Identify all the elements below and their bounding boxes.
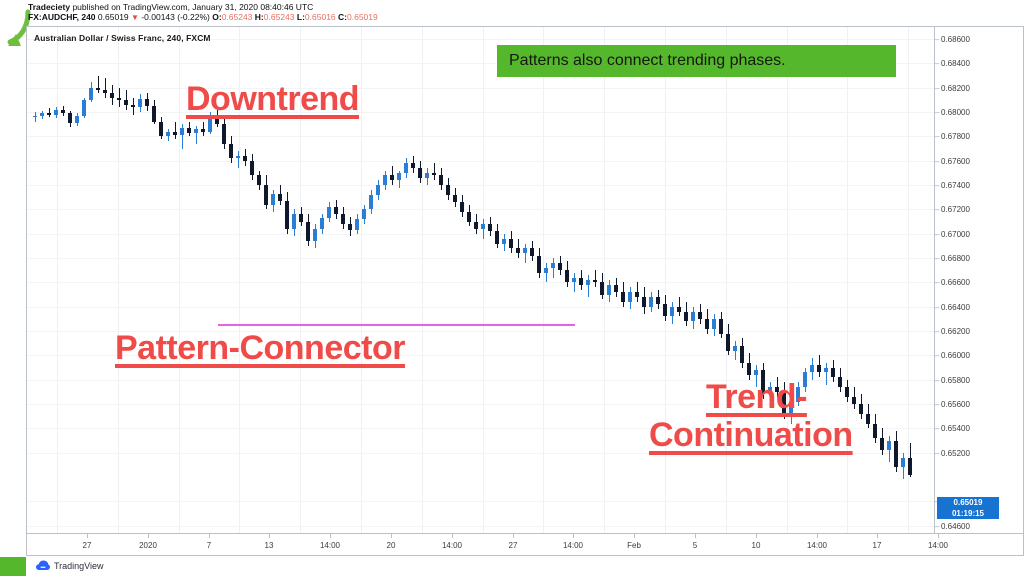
- candle-body: [257, 175, 261, 185]
- candle-body: [572, 278, 576, 283]
- grid-line-vertical: [604, 27, 605, 533]
- candle-body: [635, 292, 639, 297]
- price-tick-label: –0.67200: [935, 205, 970, 214]
- time-tick-mark: [148, 534, 149, 538]
- candle-body: [327, 207, 331, 218]
- pattern-connector-line[interactable]: [218, 324, 575, 326]
- candle-body: [264, 185, 268, 204]
- price-scale[interactable]: –0.68600–0.68400–0.68200–0.68000–0.67800…: [934, 26, 1024, 534]
- candle-body: [159, 122, 163, 137]
- time-tick-label: 14:00: [442, 541, 462, 550]
- candle-body: [236, 156, 240, 158]
- candle-body: [131, 105, 135, 107]
- candle-body: [600, 282, 604, 294]
- price-tick-label: –0.67000: [935, 230, 970, 239]
- time-tick-label: 7: [207, 541, 211, 550]
- price-tick-label: –0.68000: [935, 108, 970, 117]
- candle-body: [726, 334, 730, 351]
- candle-body: [68, 113, 72, 123]
- candle-body: [481, 224, 485, 229]
- candle-body: [810, 365, 814, 372]
- time-scale[interactable]: 27202071314:002014:002714:00Feb51014:001…: [26, 534, 1024, 556]
- symbol-label: FX:AUDCHF, 240: [28, 12, 96, 22]
- change-absolute: -0.00143: [141, 12, 175, 22]
- candle-wick: [175, 122, 176, 139]
- time-tick-mark: [330, 534, 331, 538]
- candle-body: [306, 222, 310, 241]
- candle-body: [117, 98, 121, 100]
- candle-body: [425, 173, 429, 178]
- candle-wick: [595, 270, 596, 287]
- candle-body: [495, 231, 499, 243]
- candle-body: [838, 377, 842, 387]
- candle-body: [733, 346, 737, 351]
- candle-body: [908, 458, 912, 475]
- time-tick-mark: [695, 534, 696, 538]
- time-tick-mark: [391, 534, 392, 538]
- candle-body: [670, 307, 674, 317]
- direction-arrow-icon: ▼: [131, 13, 139, 22]
- candle-body: [369, 195, 373, 210]
- candle-body: [124, 100, 128, 105]
- open-label: O:: [212, 12, 221, 22]
- candle-wick: [238, 151, 239, 168]
- candle-body: [558, 263, 562, 270]
- annotation-pattern-connector: Pattern-Connector: [115, 329, 405, 368]
- candle-body: [628, 292, 632, 302]
- time-tick-label: 27: [83, 541, 92, 550]
- annotation-downtrend: Downtrend: [186, 80, 359, 119]
- time-tick-label: 14:00: [807, 541, 827, 550]
- grid-line-horizontal: [27, 307, 934, 308]
- time-tick-mark: [573, 534, 574, 538]
- grid-line-horizontal: [27, 209, 934, 210]
- grid-line-vertical: [483, 27, 484, 533]
- candle-wick: [546, 263, 547, 282]
- open-value: 0.65243: [222, 12, 253, 22]
- candle-wick: [434, 163, 435, 180]
- candle-body: [152, 106, 156, 122]
- symbol-quote-line: FX:AUDCHF, 240 0.65019 ▼ -0.00143 (-0.22…: [28, 12, 378, 22]
- candle-body: [453, 195, 457, 202]
- candle-body: [75, 116, 79, 123]
- candle-body: [663, 304, 667, 316]
- candle-body: [411, 163, 415, 168]
- candle-body: [516, 248, 520, 253]
- time-tick-mark: [756, 534, 757, 538]
- candle-body: [278, 194, 282, 201]
- grid-line-horizontal: [27, 161, 934, 162]
- candle-body: [33, 116, 37, 117]
- candle-body: [901, 458, 905, 468]
- candle-wick: [35, 112, 36, 122]
- candle-body: [103, 90, 107, 92]
- time-tick-mark: [877, 534, 878, 538]
- candle-body: [320, 218, 324, 229]
- grid-line-vertical: [726, 27, 727, 533]
- candle-body: [222, 124, 226, 143]
- grid-line-horizontal: [27, 234, 934, 235]
- candle-body: [404, 163, 408, 173]
- candle-body: [362, 209, 366, 219]
- published-text: published on TradingView.com, January 31…: [72, 2, 313, 12]
- time-tick-label: 14:00: [320, 541, 340, 550]
- candle-body: [845, 387, 849, 397]
- price-tick-label: –0.65800: [935, 376, 970, 385]
- candle-wick: [105, 78, 106, 97]
- time-tick-label: 2020: [139, 541, 157, 550]
- candle-body: [537, 256, 541, 273]
- candle-body: [313, 229, 317, 241]
- candle-body: [698, 312, 702, 319]
- time-tick-label: Feb: [627, 541, 641, 550]
- candle-body: [54, 110, 58, 115]
- grid-line-horizontal: [27, 501, 934, 502]
- candle-body: [201, 129, 205, 131]
- time-tick-label: 27: [509, 541, 518, 550]
- candle-body: [138, 99, 142, 108]
- candle-body: [691, 312, 695, 322]
- candle-wick: [588, 275, 589, 297]
- callout-text: Patterns also connect trending phases.: [509, 52, 786, 70]
- candle-body: [488, 224, 492, 231]
- change-percent: (-0.22%): [177, 12, 210, 22]
- candle-body: [740, 346, 744, 363]
- candle-body: [229, 144, 233, 159]
- candle-body: [82, 100, 86, 116]
- candle-body: [460, 202, 464, 212]
- candle-body: [446, 185, 450, 195]
- candle-body: [859, 404, 863, 414]
- grid-line-horizontal: [27, 258, 934, 259]
- candle-body: [474, 222, 478, 229]
- current-price-badge: 0.65019: [937, 497, 999, 508]
- cloud-icon: [36, 560, 50, 571]
- candle-body: [754, 370, 758, 375]
- time-tick-label: 14:00: [928, 541, 948, 550]
- candle-body: [383, 175, 387, 185]
- candle-body: [579, 278, 583, 285]
- candle-body: [292, 214, 296, 229]
- tradingview-wordmark: TradingView: [54, 561, 104, 571]
- price-tick-label: –0.68600: [935, 35, 970, 44]
- grid-line-vertical: [787, 27, 788, 533]
- price-tick-label: –0.66800: [935, 254, 970, 263]
- candle-body: [530, 248, 534, 255]
- screenshot-root: Tradeciety published on TradingView.com,…: [0, 0, 1024, 576]
- grid-line-horizontal: [27, 136, 934, 137]
- candle-body: [271, 194, 275, 205]
- grid-line-vertical: [847, 27, 848, 533]
- candle-body: [551, 263, 555, 268]
- candle-body: [586, 280, 590, 285]
- price-tick-label: –0.64600: [935, 522, 970, 531]
- green-block-decoration: [0, 557, 26, 576]
- time-tick-mark: [209, 534, 210, 538]
- candle-body: [656, 297, 660, 304]
- grid-line-horizontal: [27, 185, 934, 186]
- candle-body: [621, 292, 625, 302]
- grid-line-horizontal: [27, 282, 934, 283]
- price-tick-label: –0.68200: [935, 84, 970, 93]
- price-tick-label: –0.66600: [935, 278, 970, 287]
- candle-body: [544, 268, 548, 273]
- candle-body: [705, 319, 709, 329]
- grid-line-horizontal: [27, 526, 934, 527]
- low-label: L:: [297, 12, 305, 22]
- candle-body: [467, 212, 471, 222]
- candle-body: [649, 297, 653, 307]
- candle-body: [341, 214, 345, 224]
- annotation-trend-continuation-line1: Trend-: [706, 378, 807, 417]
- candle-body: [397, 173, 401, 180]
- candle-body: [145, 99, 149, 106]
- grid-line-vertical: [665, 27, 666, 533]
- tradingview-logo[interactable]: TradingView: [36, 560, 104, 571]
- publisher-line: Tradeciety published on TradingView.com,…: [28, 2, 313, 12]
- time-tick-mark: [87, 534, 88, 538]
- candle-body: [173, 132, 177, 136]
- time-tick-mark: [269, 534, 270, 538]
- candle-body: [166, 132, 170, 137]
- price-tick-label: –0.66000: [935, 351, 970, 360]
- candle-body: [439, 175, 443, 185]
- publisher-name: Tradeciety: [28, 2, 70, 12]
- candle-wick: [826, 363, 827, 385]
- candle-body: [502, 239, 506, 244]
- time-tick-label: 17: [873, 541, 882, 550]
- price-tick-label: –0.65600: [935, 400, 970, 409]
- candle-body: [880, 438, 884, 450]
- candle-body: [334, 207, 338, 214]
- candle-body: [817, 365, 821, 372]
- chart-legend: Australian Dollar / Swiss Franc, 240, FX…: [34, 33, 211, 43]
- candle-body: [712, 319, 716, 329]
- price-tick-label: –0.66200: [935, 327, 970, 336]
- high-label: H:: [255, 12, 264, 22]
- candle-body: [432, 173, 436, 175]
- time-tick-label: 14:00: [563, 541, 583, 550]
- candle-body: [824, 368, 828, 373]
- candle-body: [418, 168, 422, 178]
- candle-body: [894, 441, 898, 468]
- price-tick-label: –0.67800: [935, 132, 970, 141]
- grid-line-horizontal: [27, 88, 934, 89]
- candle-body: [180, 128, 184, 135]
- candle-wick: [735, 341, 736, 360]
- candle-body: [61, 110, 65, 114]
- candle-body: [110, 93, 114, 98]
- grid-line-vertical: [179, 27, 180, 533]
- candle-body: [523, 248, 527, 253]
- candle-body: [299, 214, 303, 221]
- candle-body: [40, 113, 44, 115]
- candle-body: [348, 224, 352, 230]
- price-tick-label: –0.65400: [935, 424, 970, 433]
- candle-body: [866, 414, 870, 424]
- candle-body: [852, 397, 856, 404]
- candle-body: [887, 441, 891, 451]
- candle-body: [250, 161, 254, 176]
- candle-body: [390, 175, 394, 180]
- candle-body: [719, 319, 723, 334]
- candle-body: [565, 270, 569, 282]
- price-tick-label: –0.67400: [935, 181, 970, 190]
- close-value: 0.65019: [347, 12, 378, 22]
- grid-line-vertical: [361, 27, 362, 533]
- time-tick-label: 20: [387, 541, 396, 550]
- time-tick-label: 13: [265, 541, 274, 550]
- grid-line-vertical: [543, 27, 544, 533]
- candle-body: [243, 156, 247, 161]
- candle-body: [607, 285, 611, 295]
- candle-body: [208, 117, 212, 132]
- time-tick-mark: [634, 534, 635, 538]
- candle-body: [873, 424, 877, 439]
- countdown-badge: 01:19:15: [937, 508, 999, 519]
- price-tick-label: –0.68400: [935, 59, 970, 68]
- callout-banner: Patterns also connect trending phases.: [497, 45, 896, 77]
- bottom-bar: [0, 557, 1024, 576]
- candle-body: [677, 307, 681, 312]
- candle-body: [509, 239, 513, 249]
- last-price: 0.65019: [98, 12, 129, 22]
- candle-body: [747, 363, 751, 375]
- candle-body: [96, 88, 100, 90]
- candle-body: [593, 280, 597, 282]
- price-tick-label: –0.67600: [935, 157, 970, 166]
- candle-body: [285, 201, 289, 229]
- candle-body: [376, 185, 380, 195]
- time-tick-label: 5: [693, 541, 697, 550]
- candle-body: [642, 297, 646, 307]
- grid-line-horizontal: [27, 112, 934, 113]
- price-tick-label: –0.66400: [935, 303, 970, 312]
- time-tick-mark: [513, 534, 514, 538]
- time-tick-mark: [817, 534, 818, 538]
- time-tick-mark: [452, 534, 453, 538]
- time-tick-mark: [938, 534, 939, 538]
- candle-body: [684, 312, 688, 322]
- candle-body: [194, 129, 198, 133]
- high-value: 0.65243: [264, 12, 295, 22]
- candle-body: [831, 368, 835, 378]
- grid-line-vertical: [57, 27, 58, 533]
- candle-body: [187, 128, 191, 133]
- time-tick-label: 10: [752, 541, 761, 550]
- candle-body: [89, 88, 93, 100]
- candle-body: [614, 285, 618, 292]
- candle-body: [355, 219, 359, 230]
- candle-body: [47, 113, 51, 114]
- close-label: C:: [338, 12, 347, 22]
- annotation-trend-continuation-line2: Continuation: [649, 416, 853, 455]
- price-tick-label: –0.65200: [935, 449, 970, 458]
- chart-canvas[interactable]: [26, 26, 934, 534]
- grid-line-vertical: [422, 27, 423, 533]
- low-value: 0.65016: [305, 12, 336, 22]
